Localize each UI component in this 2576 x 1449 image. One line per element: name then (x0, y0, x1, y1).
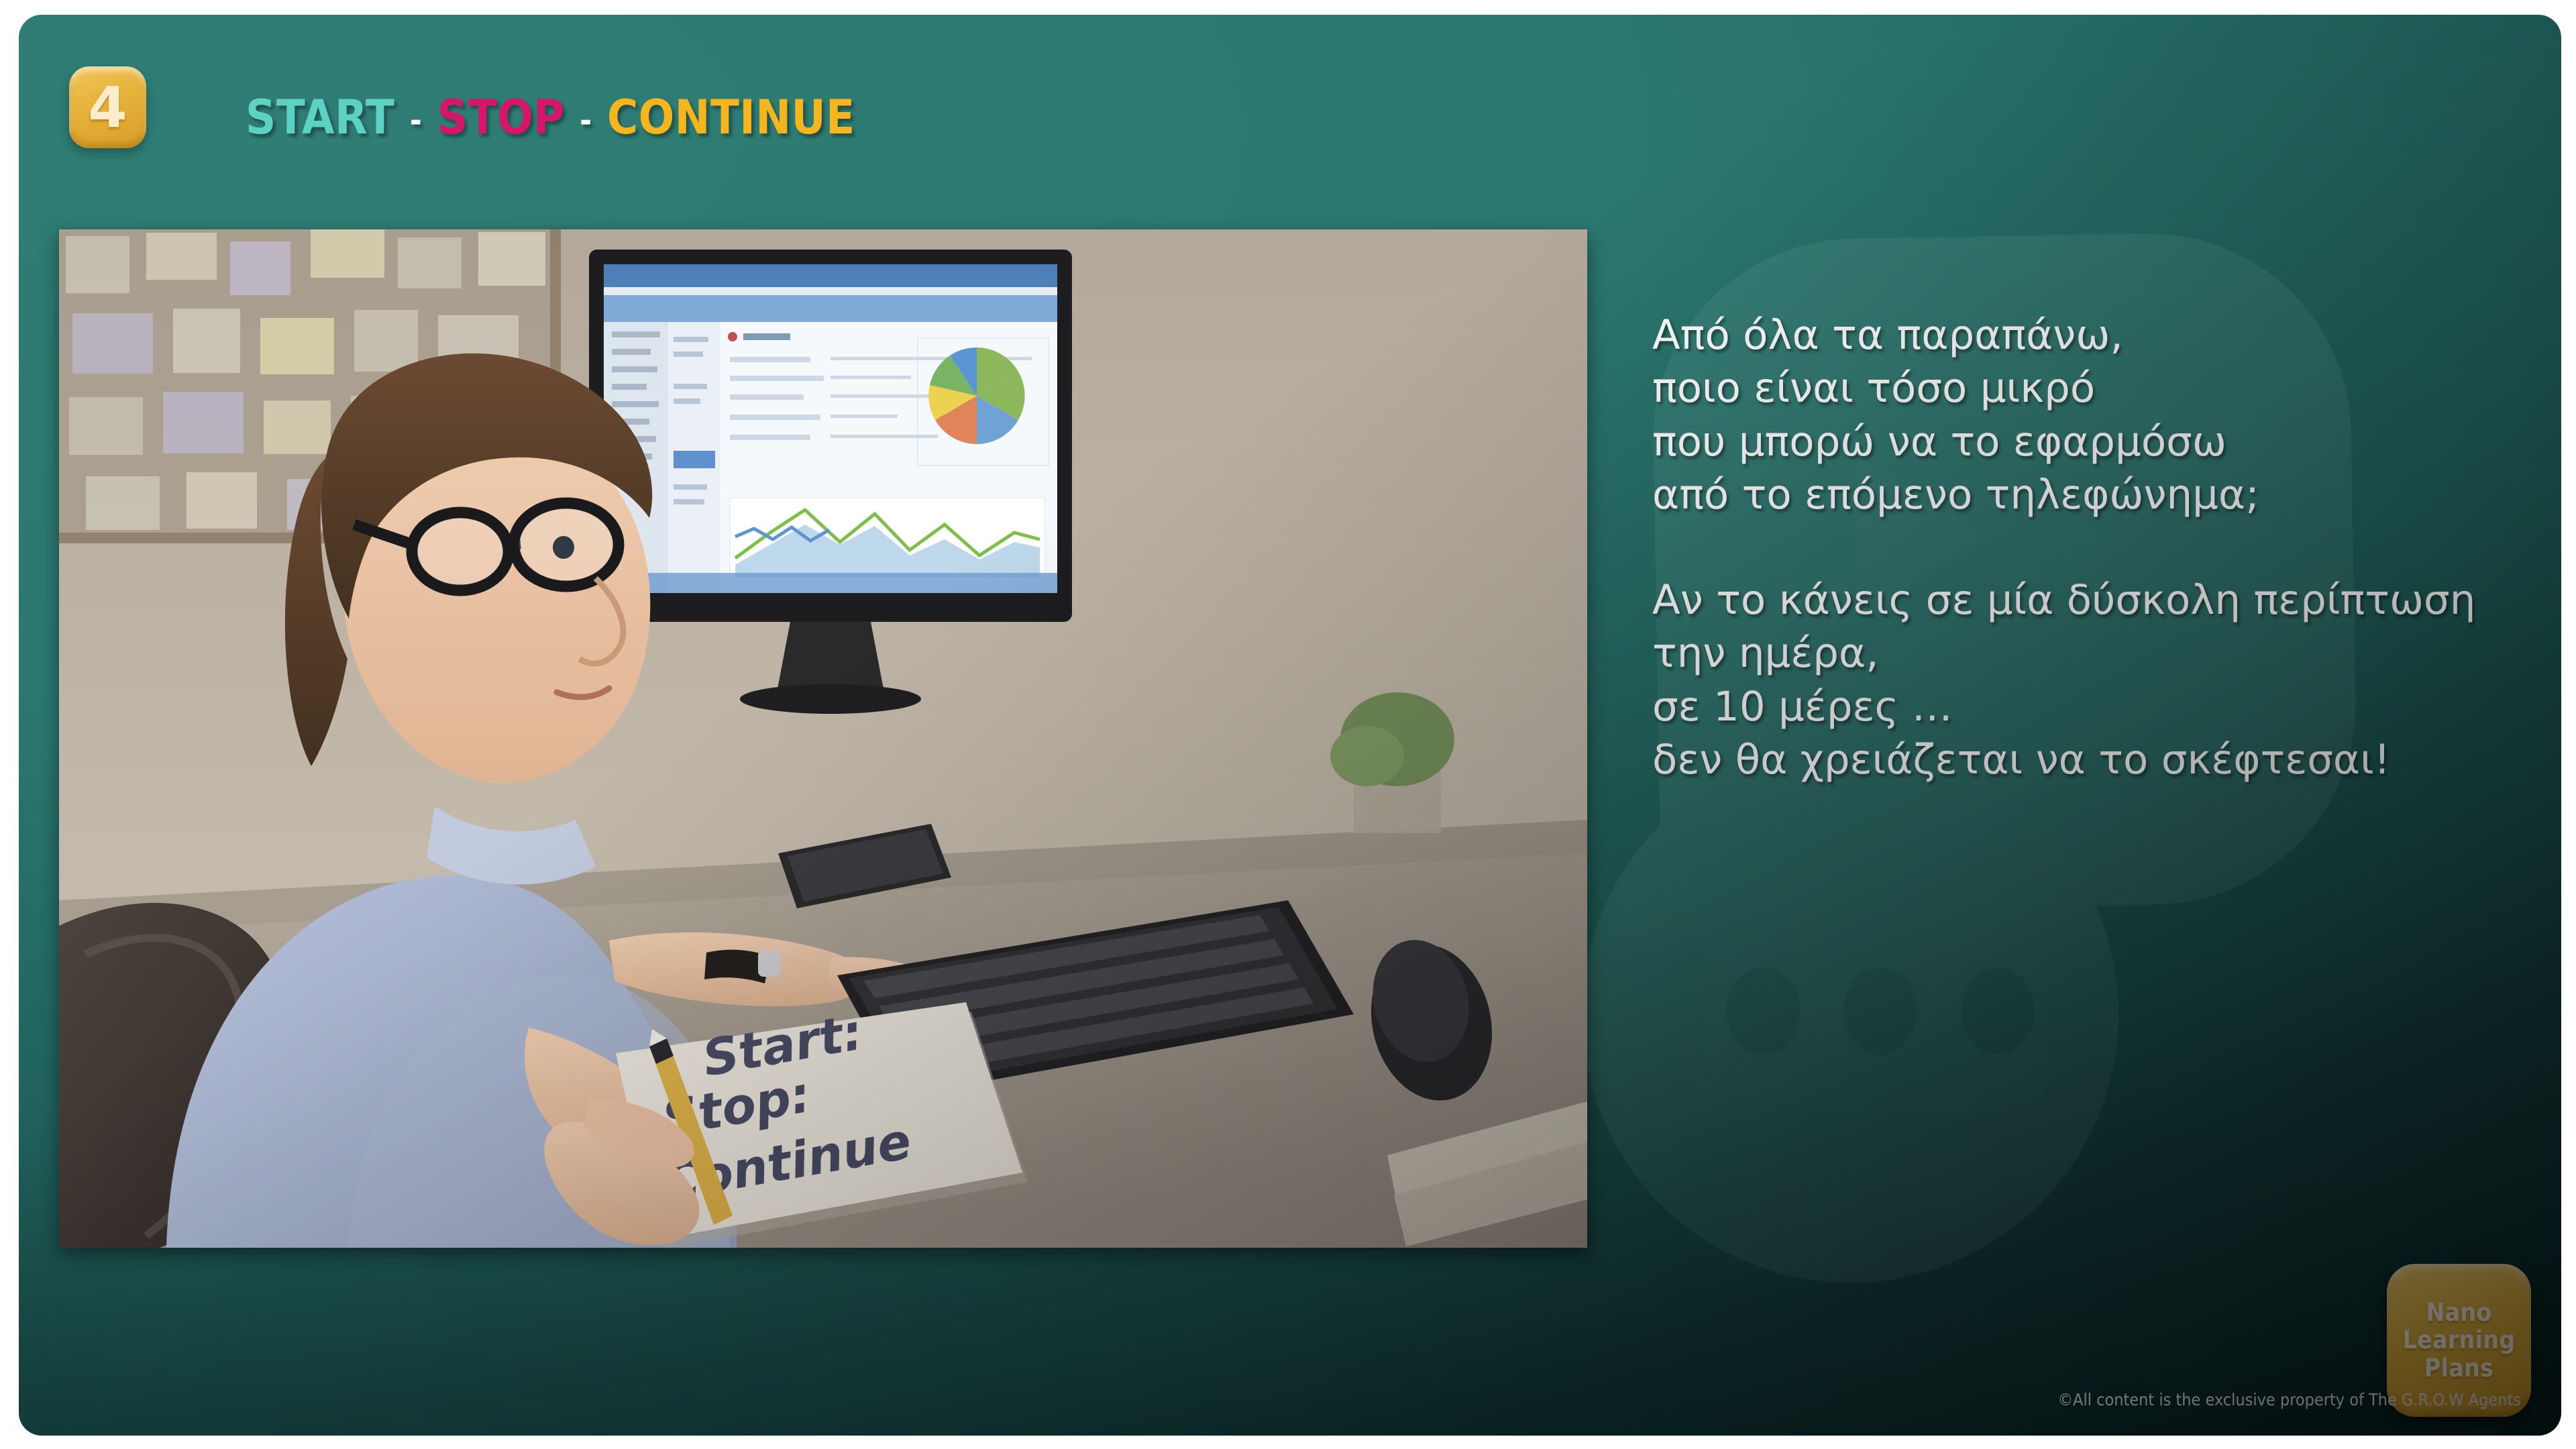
logo-line-3: Plans (2424, 1354, 2493, 1382)
slide-canvas: 4 START - STOP - CONTINUE (19, 15, 2561, 1436)
page-title: START - STOP - CONTINUE (246, 90, 855, 145)
paragraph-spacer (1652, 521, 2531, 574)
watermark-dot-icon (1843, 967, 1917, 1055)
illustration-photo: Start: Stop: Continue (59, 229, 1587, 1248)
paragraph2-line4: δεν θα χρειάζεται να το σκέφτεσαι! (1652, 733, 2531, 786)
paragraph2-line2: την ημέρα, (1652, 627, 2531, 680)
title-word-stop: STOP (437, 90, 565, 145)
paragraph2-line3: σε 10 μέρες … (1652, 680, 2531, 733)
watermark-dot-icon (1961, 967, 2035, 1055)
slide-number-badge: 4 (69, 66, 146, 148)
pie-chart (928, 347, 1024, 444)
paragraph1-line1: Από όλα τα παραπάνω, (1652, 309, 2531, 362)
title-word-continue: CONTINUE (607, 90, 855, 145)
paragraph2-line1: Αν το κάνεις σε μία δύσκολη περίπτωση (1652, 574, 2531, 627)
watermark-dot-icon (1726, 967, 1800, 1055)
body-text-block: Από όλα τα παραπάνω, ποιο είναι τόσο μικ… (1652, 309, 2531, 786)
title-word-start: START (246, 90, 394, 145)
slide-number-label: 4 (88, 79, 127, 136)
logo-line-2: Learning (2403, 1326, 2516, 1354)
logo-line-1: Nano (2426, 1299, 2491, 1326)
title-separator-1: - (410, 102, 422, 140)
copyright-notice: ©All content is the exclusive property o… (2058, 1390, 2521, 1409)
title-separator-2: - (580, 102, 592, 140)
line-chart (730, 498, 1045, 577)
illustration-svg: Start: Stop: Continue (59, 229, 1587, 1248)
paragraph1-line4: από το επόμενο τηλεφώνημα; (1652, 468, 2531, 521)
paragraph1-line2: ποιο είναι τόσο μικρό (1652, 362, 2531, 415)
paragraph1-line3: που μπορώ να το εφαρμόσω (1652, 415, 2531, 468)
